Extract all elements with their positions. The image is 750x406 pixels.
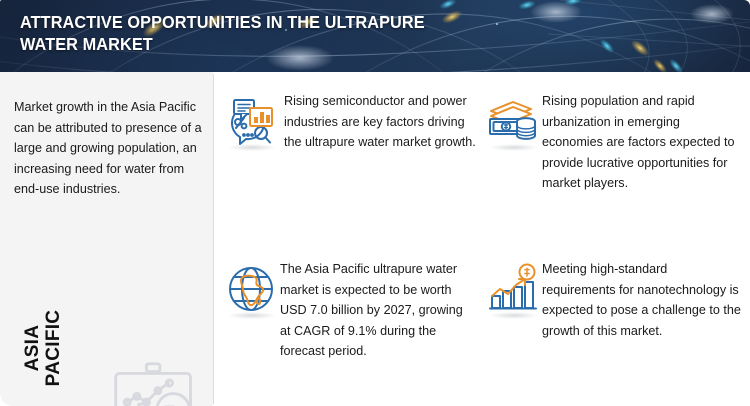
globe-icon — [224, 262, 278, 316]
banknotes-coins-icon — [486, 94, 540, 148]
panel-divider — [213, 74, 214, 404]
header-banner: ATTRACTIVE OPPORTUNITIES IN THE ULTRAPUR… — [0, 0, 750, 72]
icon-shadow — [228, 312, 276, 319]
card-nanotech-text: Meeting high-standard requirements for n… — [542, 259, 742, 341]
card-population-text: Rising population and rapid urbanization… — [542, 91, 742, 194]
report-percent-magnifier-bars-icon — [224, 94, 278, 148]
icon-shadow — [490, 144, 538, 151]
icon-shadow — [228, 144, 276, 151]
card-semiconductor-text: Rising semiconductor and power industrie… — [284, 91, 476, 153]
page-title: ATTRACTIVE OPPORTUNITIES IN THE ULTRAPUR… — [20, 11, 541, 55]
left-panel-body-text: Market growth in the Asia Pacific can be… — [14, 97, 204, 200]
infographic-page: ATTRACTIVE OPPORTUNITIES IN THE ULTRAPUR… — [0, 0, 750, 406]
presentation-chart-magnifier-icon — [108, 360, 204, 406]
card-forecast-text: The Asia Pacific ultrapure water market … — [280, 259, 476, 362]
content-area: Market growth in the Asia Pacific can be… — [0, 72, 750, 406]
region-label: ASIA PACIFIC — [22, 288, 64, 406]
left-region-panel: Market growth in the Asia Pacific can be… — [0, 72, 213, 406]
icon-shadow — [490, 312, 538, 319]
bar-chart-dollar-growth-icon — [486, 262, 540, 316]
